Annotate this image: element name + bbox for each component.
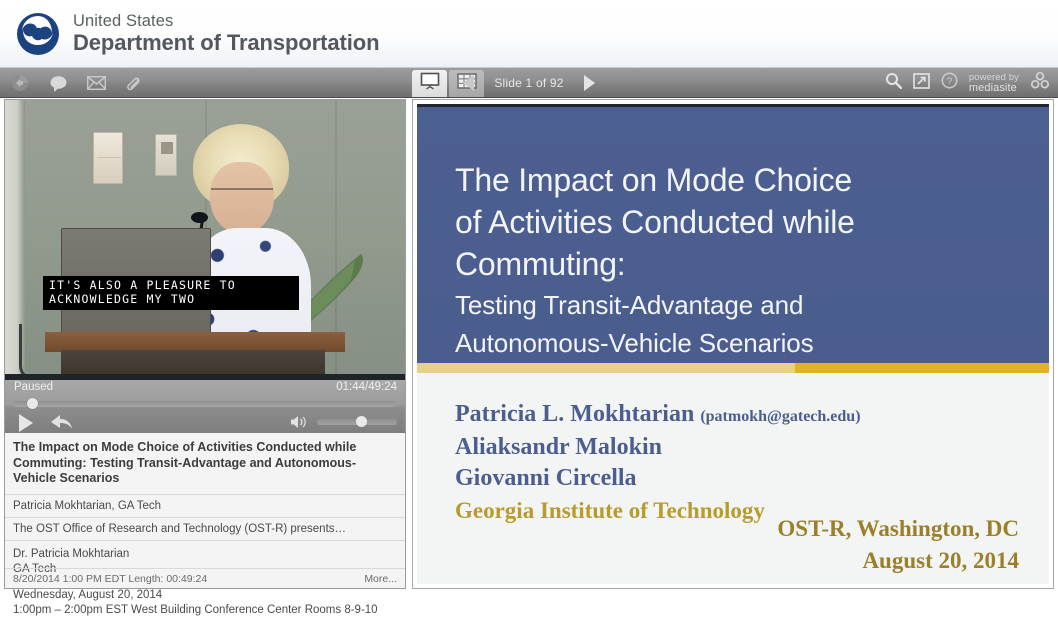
search-icon[interactable] (885, 72, 902, 94)
video-frame (5, 100, 405, 380)
video-controls: Paused 01:44/49:24 (5, 380, 405, 433)
slide-view-icon (420, 72, 440, 95)
attachment-icon[interactable] (124, 73, 144, 93)
brand-line-department: Department of Transportation (73, 32, 379, 54)
slide-counter: Slide 1 of 92 (494, 76, 563, 90)
slide-authors: Patricia L. Mokhtarian (patmokh@gatech.e… (455, 399, 861, 527)
seek-bar[interactable] (14, 401, 396, 407)
email-icon[interactable] (86, 73, 106, 93)
desc-time-location: 1:00pm – 2:00pm EST West Building Confer… (13, 603, 397, 618)
dot-triskelion-logo-icon (16, 12, 60, 56)
slide-venue-block: OST-R, Washington, DC August 20, 2014 (777, 513, 1019, 577)
author-1-email: (patmokh@gatech.edu) (700, 408, 860, 425)
next-slide-button[interactable] (584, 75, 595, 91)
slide-body-block: Patricia L. Mokhtarian (patmokh@gatech.e… (417, 373, 1049, 584)
playback-status: Paused (14, 381, 53, 393)
presentation-title: The Impact on Mode Choice of Activities … (5, 433, 405, 495)
play-button[interactable] (19, 414, 33, 432)
slide-title-line-3: Commuting: (455, 243, 1015, 285)
video-player[interactable]: IT'S ALSO A PLEASURE TO ACKNOWLEDGE MY T… (5, 100, 405, 380)
summary-row: The OST Office of Research and Technolog… (5, 518, 405, 541)
volume-handle[interactable] (356, 416, 367, 427)
player-toolbar: Slide 1 of 92 ? powered by mediasite (0, 68, 1058, 98)
slide-subtitle-line-2: Autonomous-Vehicle Scenarios (455, 325, 1015, 361)
wall-thermostat (93, 132, 123, 184)
caption-line-1: IT'S ALSO A PLEASURE TO (49, 279, 293, 293)
playback-time: 01:44/49:24 (336, 381, 397, 393)
slide-title-line-2: of Activities Conducted while (455, 201, 1015, 243)
slide-title-text: The Impact on Mode Choice of Activities … (455, 159, 1015, 361)
slide-image[interactable]: The Impact on Mode Choice of Activities … (417, 104, 1049, 584)
caption-line-2: ACKNOWLEDGE MY TWO (49, 293, 293, 307)
mediasite-text: mediasite (969, 83, 1019, 93)
author-1-name: Patricia L. Mokhtarian (455, 401, 694, 427)
slide-title-block: The Impact on Mode Choice of Activities … (417, 107, 1049, 363)
microphone-head (191, 212, 208, 223)
video-and-info-pane: IT'S ALSO A PLEASURE TO ACKNOWLEDGE MY T… (4, 99, 406, 589)
speaker-face (210, 162, 274, 234)
video-status-bar: Paused 01:44/49:24 (5, 380, 405, 398)
wall-plate (155, 134, 177, 176)
info-footer: 8/20/2014 1:00 PM EDT Length: 00:49:24 M… (5, 568, 405, 588)
author-2: Aliaksandr Malokin (455, 432, 861, 463)
speaker-glasses (211, 188, 273, 198)
closed-caption-box: IT'S ALSO A PLEASURE TO ACKNOWLEDGE MY T… (43, 276, 299, 310)
slide-title-line-1: The Impact on Mode Choice (455, 159, 1015, 201)
volume-icon[interactable] (290, 414, 308, 435)
mediasite-logo-icon[interactable] (1030, 71, 1050, 96)
more-link[interactable]: More... (364, 573, 397, 585)
footer-meta: 8/20/2014 1:00 PM EDT Length: 00:49:24 (13, 573, 207, 585)
desc-presenter-name: Dr. Patricia Mokhtarian (13, 547, 397, 562)
presentation-info-panel: The Impact on Mode Choice of Activities … (5, 433, 405, 588)
transport-controls (5, 411, 405, 433)
slide-subtitle-line-1: Testing Transit-Advantage and (455, 287, 1015, 323)
chair (19, 324, 63, 380)
presenter-row: Patricia Mokhtarian, GA Tech (5, 495, 405, 518)
author-line-1: Patricia L. Mokhtarian (patmokh@gatech.e… (455, 399, 861, 432)
podium-top (45, 332, 345, 352)
desc-date: Wednesday, August 20, 2014 (13, 588, 397, 603)
svg-text:?: ? (947, 76, 953, 87)
brand-text: United States Department of Transportati… (73, 13, 379, 55)
seek-handle[interactable] (27, 398, 38, 409)
slide-pane: The Impact on Mode Choice of Activities … (412, 99, 1054, 589)
brand-header: United States Department of Transportati… (0, 0, 1058, 68)
toolbar-left-icons (10, 68, 144, 98)
slide-view-button[interactable] (412, 70, 447, 97)
powered-by-label: powered by mediasite (969, 73, 1019, 93)
help-icon[interactable]: ? (941, 72, 958, 94)
author-3: Giovanni Circella (455, 463, 861, 494)
brand-line-united-states: United States (73, 13, 379, 30)
venue-location: OST-R, Washington, DC (777, 513, 1019, 545)
home-icon[interactable] (10, 73, 30, 93)
popout-icon[interactable] (913, 73, 930, 94)
toolbar-right-icons: ? powered by mediasite (885, 68, 1050, 98)
previous-slide-button[interactable] (463, 75, 474, 91)
venue-date: August 20, 2014 (777, 545, 1019, 577)
comment-icon[interactable] (48, 73, 68, 93)
